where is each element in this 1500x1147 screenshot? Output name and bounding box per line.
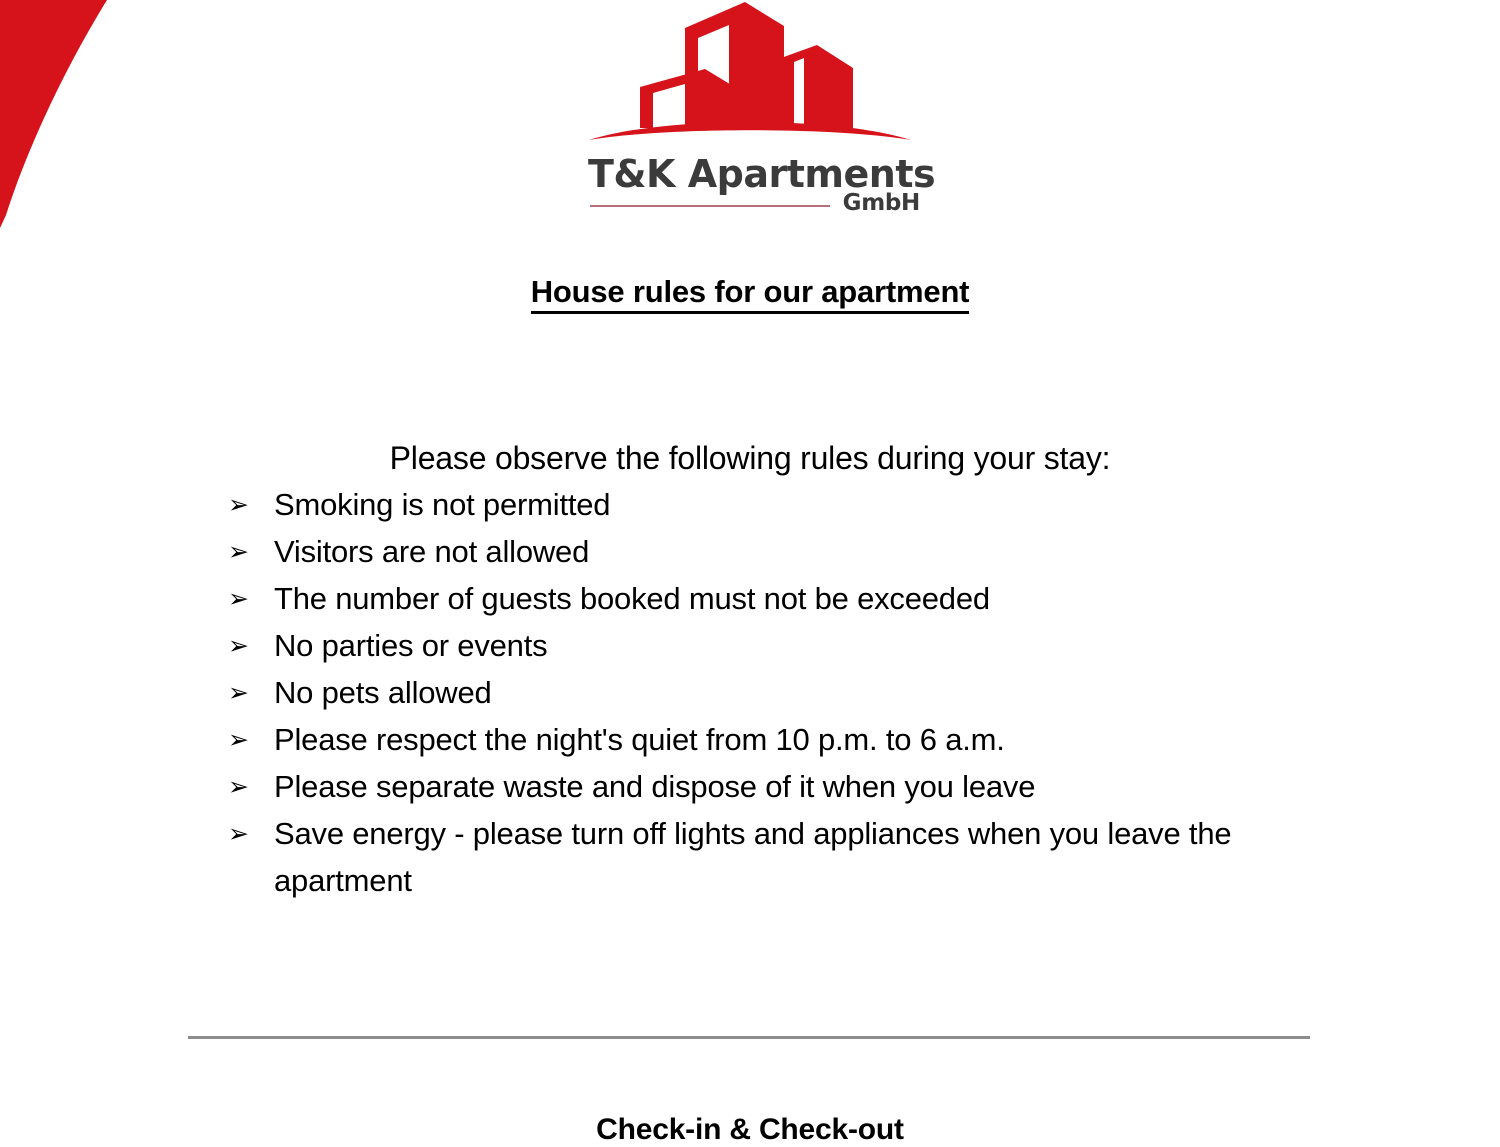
page-title: House rules for our apartment [0,274,1500,310]
house-rules-list: ➢ Smoking is not permitted ➢ Visitors ar… [228,482,1358,905]
arrow-bullet-icon: ➢ [228,623,249,670]
list-item: ➢ Visitors are not allowed [228,529,1358,576]
brand-logo: T&K Apartments GmbH [0,0,1500,224]
list-item-label: Please respect the night's quiet from 10… [274,722,1005,757]
list-item: ➢ No pets allowed [228,670,1358,717]
list-item-label: No pets allowed [274,675,492,710]
list-item: ➢ No parties or events [228,623,1358,670]
arrow-bullet-icon: ➢ [228,764,249,811]
check-in-out-heading: Check-in & Check-out [0,1113,1500,1147]
list-item-label: The number of guests booked must not be … [274,581,990,616]
arrow-bullet-icon: ➢ [228,576,249,623]
arrow-bullet-icon: ➢ [228,529,249,576]
list-item-label: Visitors are not allowed [274,534,589,569]
brand-legal-form: GmbH [843,190,920,216]
arrow-bullet-icon: ➢ [228,670,249,717]
section-divider [188,1036,1310,1039]
arrow-bullet-icon: ➢ [228,717,249,764]
list-item: ➢ The number of guests booked must not b… [228,576,1358,623]
buildings-logo-icon [585,0,915,150]
page-title-text: House rules for our apartment [531,274,970,314]
list-item-label: No parties or events [274,628,547,663]
list-item-label: Smoking is not permitted [274,487,610,522]
list-item-label: Please separate waste and dispose of it … [274,769,1035,804]
arrow-bullet-icon: ➢ [228,811,249,858]
intro-text: Please observe the following rules durin… [0,440,1500,477]
wordmark-rule [590,205,830,207]
arrow-bullet-icon: ➢ [228,482,249,529]
list-item: ➢ Smoking is not permitted [228,482,1358,529]
list-item: ➢ Please separate waste and dispose of i… [228,764,1358,811]
list-item: ➢ Save energy - please turn off lights a… [228,811,1358,904]
list-item-label: Save energy - please turn off lights and… [274,816,1231,898]
list-item: ➢ Please respect the night's quiet from … [228,717,1358,764]
brand-wordmark: T&K Apartments GmbH [580,152,920,224]
